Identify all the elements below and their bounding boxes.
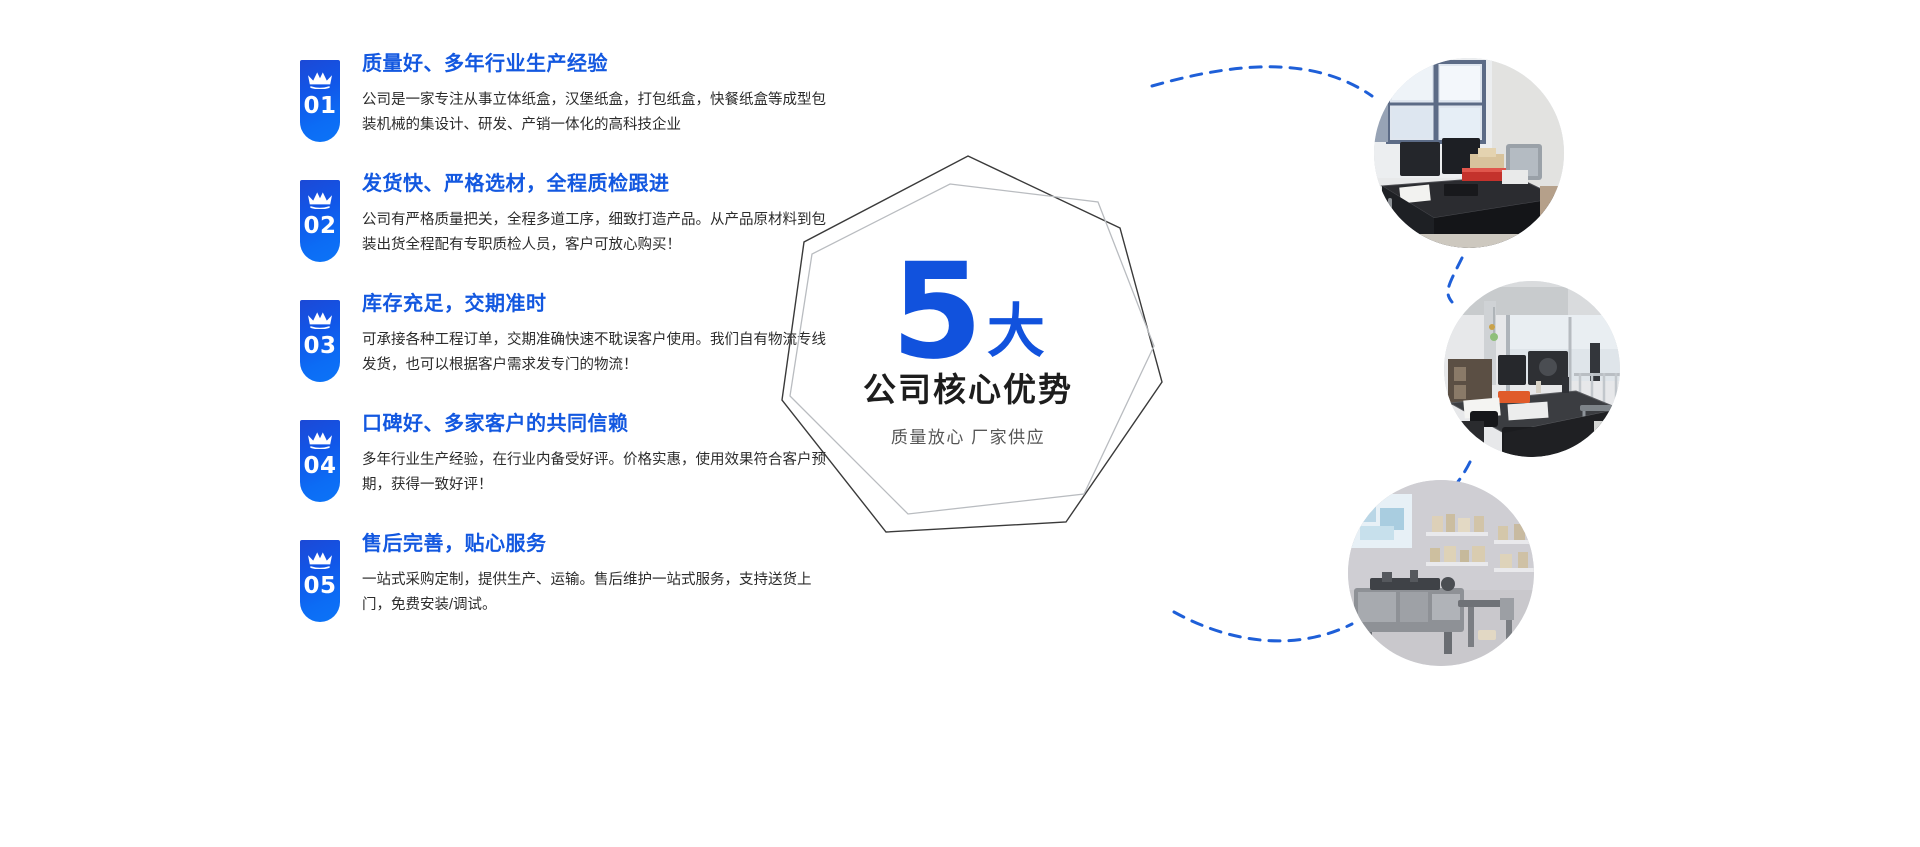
crown-icon [307,551,333,569]
office-workspace-photo [1374,58,1564,248]
advantage-item-1: 01 质量好、多年行业生产经验 公司是一家专注从事立体纸盒，汉堡纸盒，打包纸盒，… [300,52,900,140]
advantage-desc: 可承接各种工程订单，交期准确快速不耽误客户使用。我们自有物流专线发货，也可以根据… [362,328,832,378]
advantage-desc: 一站式采购定制，提供生产、运输。售后维护一站式服务，支持送货上门，免费安装/调试… [362,568,832,618]
crown-icon [307,191,333,209]
showroom-machine-photo [1348,480,1534,666]
advantage-badge-2: 02 [300,180,340,262]
crown-icon [307,71,333,89]
emblem-big-unit: 大 [987,303,1045,361]
advantage-desc: 多年行业生产经验，在行业内备受好评。价格实惠，使用效果符合客户预期，获得一致好评… [362,448,832,498]
advantage-badge-4: 04 [300,420,340,502]
office-window-photo [1444,281,1620,457]
crown-icon [307,431,333,449]
advantage-desc: 公司是一家专注从事立体纸盒，汉堡纸盒，打包纸盒，快餐纸盒等成型包装机械的集设计、… [362,88,832,138]
advantages-infographic: 01 质量好、多年行业生产经验 公司是一家专注从事立体纸盒，汉堡纸盒，打包纸盒，… [0,0,1920,847]
core-advantages-emblem: 5 大 公司核心优势 质量放心 厂家供应 [768,150,1168,550]
crown-icon [307,311,333,329]
advantage-title: 质量好、多年行业生产经验 [362,52,900,76]
emblem-text-block: 5 大 公司核心优势 质量放心 厂家供应 [768,150,1168,550]
advantage-number: 05 [303,575,336,598]
advantage-badge-5: 05 [300,540,340,622]
advantage-desc: 公司有严格质量把关，全程多道工序，细致打造产品。从产品原材料到包装出货全程配有专… [362,208,832,258]
advantage-number: 01 [303,95,336,118]
advantage-badge-3: 03 [300,300,340,382]
emblem-big-number: 5 [891,252,981,373]
emblem-big-row: 5 大 [891,252,1045,373]
advantage-badge-1: 01 [300,60,340,142]
emblem-headline: 公司核心优势 [863,369,1073,410]
advantage-number: 02 [303,215,336,238]
advantage-number: 03 [303,335,336,358]
emblem-subline: 质量放心 厂家供应 [891,423,1045,448]
advantage-number: 04 [303,455,336,478]
